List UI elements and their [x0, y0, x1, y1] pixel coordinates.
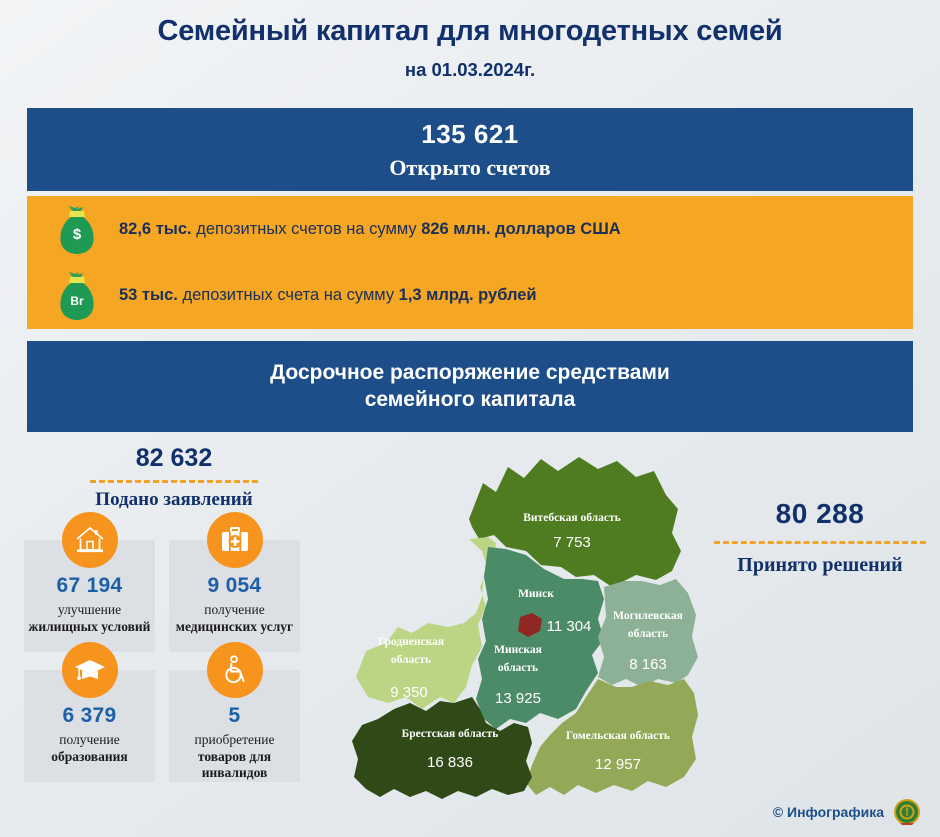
- map-label-mogilev: Могилевская: [613, 610, 683, 622]
- page-subtitle: на 01.03.2024г.: [0, 59, 940, 81]
- accounts-band: 135 621 Открыто счетов: [27, 108, 913, 191]
- money-bag-byn-icon: Br: [57, 271, 97, 321]
- stat-caption-bold: образования: [51, 749, 127, 764]
- belarus-emblem-icon: [892, 797, 922, 827]
- applications-label: Подано заявлений: [24, 489, 324, 511]
- map-label-vitebsk: Витебская область: [523, 512, 620, 524]
- stat-caption-bold: медицинских услуг: [176, 619, 293, 634]
- deposit-middle: депозитных счета на сумму: [178, 286, 399, 304]
- dashed-divider: [714, 541, 926, 544]
- accounts-number: 135 621: [421, 119, 518, 150]
- bag-symbol: Br: [70, 294, 84, 308]
- stat-value: 9 054: [169, 574, 300, 598]
- map-label-mogilev-2: область: [628, 628, 668, 640]
- applications-cards: 67 194 улучшение жилищных условий: [24, 540, 324, 782]
- graduation-cap-icon: [62, 642, 118, 698]
- accounts-label: Открыто счетов: [389, 155, 550, 181]
- map-label-grodno-2: область: [391, 654, 431, 666]
- stat-caption: приобретение товаров для инвалидов: [169, 732, 300, 782]
- wheelchair-icon: [207, 642, 263, 698]
- deposit-middle: депозитных счетов на сумму: [192, 220, 422, 238]
- deposit-tail: 826 млн. долларов США: [421, 220, 621, 238]
- deposit-text-byn: 53 тыс. депозитных счета на сумму 1,3 мл…: [119, 286, 537, 305]
- section-heading-line2: семейного капитала: [365, 387, 576, 413]
- decisions-panel: 80 288 Принято решений: [706, 498, 934, 577]
- house-icon: [62, 512, 118, 568]
- section-heading-line1: Досрочное распоряжение средствами: [270, 360, 670, 386]
- bag-symbol: $: [73, 226, 82, 243]
- stat-value: 67 194: [24, 574, 155, 598]
- stat-value: 5: [169, 704, 300, 728]
- section-heading: Досрочное распоряжение средствами семейн…: [27, 341, 913, 432]
- map-value-grodno: 9 350: [390, 684, 428, 701]
- map-value-gomel: 12 957: [595, 756, 641, 773]
- applications-number: 82 632: [24, 444, 324, 473]
- stat-caption: получение медицинских услуг: [169, 602, 300, 635]
- stat-caption-bold: товаров для инвалидов: [198, 749, 271, 781]
- map-svg: Витебская область 7 753 Гродненская обла…: [336, 447, 736, 837]
- belarus-region-map: Витебская область 7 753 Гродненская обла…: [336, 447, 736, 837]
- map-value-brest: 16 836: [427, 754, 473, 771]
- footer: © Инфографика: [773, 797, 922, 827]
- map-label-grodno: Гродненская: [378, 636, 444, 648]
- applications-panel: 82 632 Подано заявлений 67 194 улучш: [24, 444, 324, 782]
- deposit-text-usd: 82,6 тыс. депозитных счетов на сумму 826…: [119, 220, 621, 239]
- stat-value: 6 379: [24, 704, 155, 728]
- map-label-minsk-obl: Минская: [494, 644, 542, 656]
- decisions-number: 80 288: [706, 498, 934, 530]
- deposit-row-usd: $ 82,6 тыс. депозитных счетов на сумму 8…: [57, 202, 913, 258]
- stat-card-medical[interactable]: 9 054 получение медицинских услуг: [169, 540, 300, 652]
- stat-caption-normal: приобретение: [195, 732, 275, 747]
- dashed-divider: [90, 480, 258, 483]
- page-title: Семейный капитал для многодетных семей: [0, 16, 940, 48]
- infographic-root: Семейный капитал для многодетных семей н…: [0, 0, 940, 837]
- stat-caption: улучшение жилищных условий: [24, 602, 155, 635]
- map-value-mogilev: 8 163: [629, 656, 667, 673]
- map-value-minsk-city: 11 304: [547, 618, 592, 635]
- deposit-lead: 82,6 тыс.: [119, 220, 192, 238]
- map-value-minsk-obl: 13 925: [495, 690, 541, 707]
- map-value-vitebsk: 7 753: [553, 534, 591, 551]
- map-label-minsk-obl-2: область: [498, 662, 538, 674]
- stat-card-housing[interactable]: 67 194 улучшение жилищных условий: [24, 540, 155, 652]
- map-label-minsk-city: Минск: [518, 588, 554, 600]
- deposit-lead: 53 тыс.: [119, 286, 178, 304]
- deposits-band: $ 82,6 тыс. депозитных счетов на сумму 8…: [27, 196, 913, 329]
- map-label-brest: Брестская область: [402, 728, 499, 740]
- stat-card-disability-goods[interactable]: 5 приобретение товаров для инвалидов: [169, 670, 300, 782]
- deposit-row-byn: Br 53 тыс. депозитных счета на сумму 1,3…: [57, 268, 913, 324]
- stat-card-education[interactable]: 6 379 получение образования: [24, 670, 155, 782]
- money-bag-usd-icon: $: [57, 205, 97, 255]
- applications-header: 82 632 Подано заявлений: [24, 444, 324, 511]
- stat-caption: получение образования: [24, 732, 155, 765]
- map-label-gomel: Гомельская область: [566, 730, 670, 742]
- footer-copyright: © Инфографика: [773, 804, 884, 820]
- stat-caption-normal: получение: [204, 602, 265, 617]
- stat-caption-normal: получение: [59, 732, 120, 747]
- header: Семейный капитал для многодетных семей н…: [0, 16, 940, 81]
- deposit-tail: 1,3 млрд. рублей: [399, 286, 537, 304]
- stat-caption-normal: улучшение: [58, 602, 121, 617]
- medical-kit-icon: [207, 512, 263, 568]
- stat-caption-bold: жилищных условий: [29, 619, 151, 634]
- decisions-label: Принято решений: [706, 554, 934, 577]
